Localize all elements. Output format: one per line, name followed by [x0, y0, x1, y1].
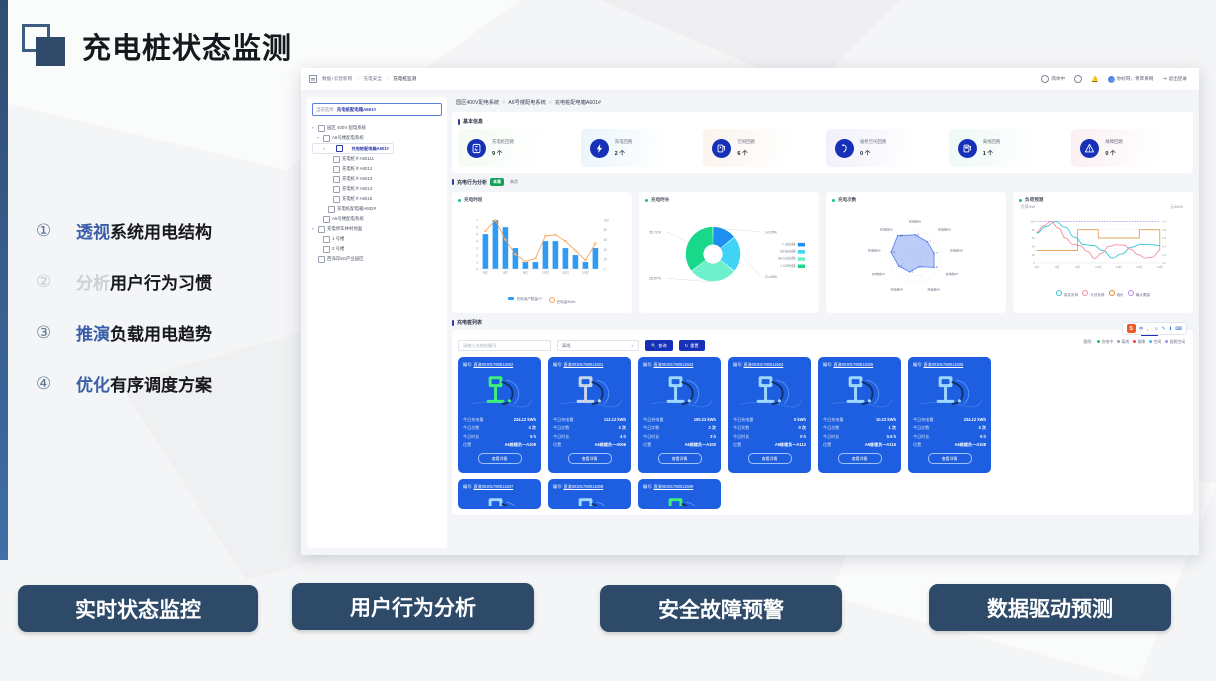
section-label: 充电桩列表	[457, 319, 482, 326]
left-accent-bar	[0, 0, 8, 560]
tree-node[interactable]: 西海岸5G产业园区	[312, 254, 442, 264]
svg-text:0时: 0时	[483, 270, 489, 275]
legend-label: 充电中	[1102, 340, 1113, 344]
node-icon	[328, 206, 335, 213]
query-button[interactable]: 🔍查询	[645, 340, 673, 351]
svg-text:0.8: 0.8	[1162, 228, 1166, 232]
pile-location-row: 位置A6栋楼负一A108	[913, 442, 986, 448]
legend-label: 充电用户数量/个	[516, 297, 542, 301]
node-icon	[323, 246, 330, 253]
list-item-number: ①	[36, 221, 76, 241]
legend-item: 拔枪空闲	[1165, 340, 1185, 345]
tree-node-label: 园区 400V 配电系统	[327, 125, 366, 131]
node-icon	[323, 216, 330, 223]
tree-node-label: 2 号楼	[332, 246, 344, 252]
tab-this-month[interactable]: 本月	[507, 178, 521, 186]
search-input[interactable]: 请输入充电桩编号	[458, 340, 551, 351]
node-icon	[333, 176, 340, 183]
line-chart-svg: 020406080100 0.00.20.40.60.81.0 0时4时8时12…	[1019, 210, 1187, 284]
pile-energy-value: 10.23 kWh	[876, 417, 896, 423]
pile-duration-label: 今日时长	[463, 434, 479, 440]
svg-text:8: 8	[917, 233, 919, 237]
pile-location-row: 位置A6栋楼负一A100	[643, 442, 716, 448]
ime-toolbar[interactable]: S 中 ， ☺ ✎ ⬇ ⌨	[1122, 322, 1187, 335]
info-card-lightning-bolt: 充电回路2 个	[581, 129, 697, 167]
node-icon	[323, 236, 330, 243]
content-breadcrumb: 园区400V配电系统>A6号楼配电系统>充电桩配电箱A601#	[456, 99, 1193, 106]
breadcrumb-separator: /	[357, 77, 358, 82]
tree-node-label: A5号楼配电系统	[332, 216, 364, 222]
pile-card[interactable]: 编号: 直流00301780011503今日充电量100.23 kWh今日次数2…	[638, 357, 721, 473]
pile-card[interactable]: 编号: 直流00301780011501今日充电量112.12 kWh今日次数3…	[548, 357, 631, 473]
view-detail-button[interactable]: 查看详情	[658, 453, 702, 464]
pile-id-value: 直流00301780011504	[743, 362, 783, 367]
svg-text:20: 20	[604, 258, 608, 262]
content-breadcrumb-item-current: 充电桩配电箱A601#	[555, 100, 601, 106]
bell-icon[interactable]: 🔔	[1091, 76, 1098, 83]
tree-node[interactable]: ▾园区 400V 配电系统	[312, 123, 442, 133]
svg-text:充电桩#9: 充电桩#9	[938, 227, 951, 232]
svg-text:100: 100	[1030, 220, 1035, 224]
pill-data-driven-forecast[interactable]: 数据驱动预测	[929, 584, 1171, 631]
offline-pile-icon	[958, 139, 977, 158]
pile-location-row: 位置A6栋楼负一A115	[823, 442, 896, 448]
pile-location-value: A6栋楼负一A100	[685, 442, 716, 448]
svg-text:7: 7	[929, 240, 931, 244]
page-title: 充电桩状态监测	[82, 25, 292, 67]
current-selection-box[interactable]: 当前选择: 充电桩配电箱A601#	[312, 103, 442, 116]
svg-text:5: 5	[476, 232, 478, 236]
chart-charging-count: 充电次数 充电桩#1充电桩#9充电桩#8充电桩#7充电桩#6充电桩#5充电桩#4…	[826, 192, 1006, 313]
view-detail-button[interactable]: 查看详情	[748, 453, 792, 464]
pile-card[interactable]: 编号: 直流00301780011508	[548, 479, 631, 509]
ime-mode-label[interactable]: 中	[1139, 326, 1144, 332]
topbar-right-group: 简体中 🔔 你好呀，青苹果啊 ⇥退出登录	[1041, 75, 1191, 83]
pile-id-value: 直流00301780011508	[563, 484, 603, 489]
tree-node[interactable]: 充电桩＃A60111	[312, 154, 442, 164]
tree-node-label: 充电桩＃A6012	[342, 166, 372, 172]
chart-row: 充电时段 01234567 020406080100 0时4时8时12时16时2…	[452, 192, 1193, 313]
svg-text:60: 60	[1032, 236, 1036, 240]
svg-text:> 120分钟: > 120分钟	[780, 263, 796, 268]
svg-text:30-60分钟: 30-60分钟	[780, 249, 796, 254]
tree-node[interactable]: 2 号楼	[312, 244, 442, 254]
view-detail-button[interactable]: 查看详情	[838, 453, 882, 464]
svg-text:8时: 8时	[523, 270, 529, 275]
legend-item: 离线	[1117, 340, 1129, 345]
legend-label: 最大需量	[1136, 293, 1150, 297]
pile-id-label: 编号:	[643, 362, 652, 367]
list-item-highlight: 推演	[76, 325, 110, 344]
list-item-label: 优化有序调度方案	[76, 371, 212, 396]
list-item-rest: 系统用电结构	[110, 223, 212, 242]
pile-list-title: 充电桩列表	[452, 319, 1193, 326]
tree-node[interactable]: 1 号楼	[312, 234, 442, 244]
info-card-value: 0 个	[860, 149, 886, 157]
info-card-label: 拔枪空闲回路	[860, 139, 886, 145]
behavior-title: 充电行为分析 本周 本月	[452, 178, 1193, 186]
pile-energy-row: 今日充电量0 kWh	[733, 417, 806, 423]
keyboard-icon[interactable]: ⌨	[1175, 326, 1182, 332]
legend-item: 充电用户数量/个	[508, 297, 542, 305]
svg-text:0: 0	[604, 267, 606, 271]
pile-card-id: 编号: 直流00301780011504	[733, 362, 806, 368]
pile-count-value: 4 次	[978, 425, 986, 431]
tab-this-week[interactable]: 本周	[490, 178, 504, 186]
chart-legend: 真实负荷 计划负荷 电价 最大需量	[1019, 290, 1187, 298]
pile-duration-value: 0.5 h	[887, 434, 896, 440]
pile-art	[643, 370, 716, 414]
tree-node[interactable]: ▾充电桩配电箱A601#	[312, 143, 394, 154]
svg-text:< 30分钟: < 30分钟	[782, 241, 796, 246]
svg-text:20时: 20时	[1136, 264, 1142, 269]
legend-item: 充电中	[1097, 340, 1113, 345]
breadcrumb-item[interactable]: 充电安全	[364, 76, 382, 82]
pile-art	[643, 492, 716, 506]
svg-text:4: 4	[476, 239, 478, 243]
pile-id-value: 直流00301780011503	[653, 362, 693, 367]
breadcrumb-separator: >	[502, 100, 505, 106]
pile-count-label: 今日次数	[463, 425, 479, 431]
sogou-logo-icon: S	[1127, 324, 1136, 333]
breadcrumb-separator: /	[387, 77, 388, 82]
tree-node[interactable]: 充电桩＃A6013	[312, 174, 442, 184]
pile-duration-value: 0 h	[800, 434, 806, 440]
pile-card[interactable]: 编号: 直流00301780011502今日充电量234.12 kWh今日次数4…	[458, 357, 541, 473]
tree-node[interactable]: 充电桩＃A6012	[312, 164, 442, 174]
current-selection-label: 当前选择:	[316, 107, 335, 113]
legend-label: 计划负荷	[1090, 293, 1104, 297]
device-tree: ▾园区 400V 配电系统▾A6号楼配电系统▾充电桩配电箱A601#充电桩＃A6…	[312, 123, 442, 264]
svg-text:充电桩#1: 充电桩#1	[909, 218, 922, 223]
logout-icon: ⇥	[1162, 76, 1166, 82]
svg-text:80: 80	[604, 228, 608, 232]
view-detail-button[interactable]: 查看详情	[928, 453, 972, 464]
view-detail-button[interactable]: 查看详情	[478, 453, 522, 464]
pile-art	[913, 370, 986, 414]
pile-location-row: 位置A6栋楼负一A109	[463, 442, 536, 448]
svg-text:6: 6	[476, 225, 478, 229]
legend-label: 故障	[1138, 340, 1146, 344]
legend-label: 拔枪空闲	[1170, 340, 1185, 344]
axis-labels: 负荷/kW 元/kWh	[1019, 203, 1187, 210]
pile-duration-row: 今日时长4 h	[553, 434, 626, 440]
svg-text:40: 40	[604, 248, 608, 252]
basic-info-title: 基本信息	[458, 118, 1187, 125]
list-item-rest: 用户行为习惯	[110, 274, 212, 293]
pile-card-grid-row2: 编号: 直流00301780011507编号: 直流00301780011508…	[458, 479, 1187, 509]
content-breadcrumb-item[interactable]: A6号楼配电系统	[508, 100, 545, 106]
pile-energy-value: 100.23 kWh	[694, 417, 716, 423]
info-card-plug-unplugged: 拔枪空闲回路0 个	[826, 129, 942, 167]
pile-card[interactable]: 编号: 直流00301780011505今日充电量10.23 kWh今日次数1 …	[818, 357, 901, 473]
pile-count-label: 今日次数	[823, 425, 839, 431]
pile-id-label: 编号:	[463, 484, 472, 489]
basic-info-panel: 基本信息 充电桩回路9 个充电回路2 个空闲回路6 个拔枪空闲回路0 个离线回路…	[452, 112, 1193, 173]
content-breadcrumb-item[interactable]: 园区400V配电系统	[456, 100, 499, 106]
bar-chart-svg: 01234567 020406080100 0时4时8时12时16时20时	[458, 203, 626, 291]
list-item-number: ③	[36, 323, 76, 343]
pile-card[interactable]: 编号: 直流00301780011504今日充电量0 kWh今日次数0 次今日时…	[728, 357, 811, 473]
pile-illustration	[643, 492, 716, 506]
tree-node[interactable]: 充电桩＃A6014	[312, 184, 442, 194]
pile-id-label: 编号:	[463, 362, 472, 367]
tree-node-label: 充电桩配电箱A602#	[337, 206, 376, 212]
legend-label: 真实负荷	[1064, 293, 1078, 297]
pile-id-label: 编号:	[913, 362, 922, 367]
pile-energy-label: 今日充电量	[823, 417, 843, 423]
app-screenshot: 数据+云智新网 / 充电安全 / 充电桩监测 简体中 🔔 你好呀，青苹果啊 ⇥退…	[301, 68, 1199, 555]
pile-location-label: 位置	[823, 442, 831, 448]
legend-item: 充电量/kWh	[549, 297, 576, 305]
pile-duration-row: 今日时长0 h	[733, 434, 806, 440]
pill-user-behavior-analysis[interactable]: 用户行为分析	[292, 583, 534, 630]
svg-text:0.6: 0.6	[1162, 236, 1166, 240]
svg-text:10: 10	[900, 233, 904, 237]
svg-text:充电桩#4: 充电桩#4	[872, 271, 885, 276]
reset-label: 重置	[690, 343, 698, 349]
pile-id-value: 直流00301780011506	[923, 362, 963, 367]
tree-node-label: 充电桩配电箱A601#	[352, 146, 389, 152]
svg-text:60-120分钟: 60-120分钟	[778, 256, 796, 261]
pile-duration-row: 今日时长3 h	[643, 434, 716, 440]
tree-node-label: A6号楼配电系统	[332, 135, 364, 141]
pile-location-label: 位置	[463, 442, 471, 448]
svg-text:1.0: 1.0	[1162, 220, 1166, 224]
svg-text:28.57%: 28.57%	[649, 277, 661, 281]
breadcrumb-item[interactable]: 数据+云智新网	[322, 76, 352, 82]
pile-duration-value: 3 h	[710, 434, 716, 440]
main-content: 园区400V配电系统>A6号楼配电系统>充电桩配电箱A601# 基本信息 充电桩…	[447, 91, 1199, 555]
pile-location-value: A6栋楼负一A108	[955, 442, 986, 448]
pile-count-value: 4 次	[528, 425, 536, 431]
pile-id-label: 编号:	[553, 484, 562, 489]
tree-node[interactable]: 充电桩＃A6015	[312, 194, 442, 204]
pile-location-value: A6栋楼负一A115	[865, 442, 896, 448]
pile-illustration	[553, 492, 626, 506]
svg-text:7: 7	[936, 251, 938, 255]
tree-node-label: 充电桩＃A6013	[342, 176, 372, 182]
pile-count-value: 3 次	[618, 425, 626, 431]
svg-text:4时: 4时	[1055, 264, 1060, 269]
list-item: ④ 优化有序调度方案	[36, 371, 286, 396]
menu-collapse-icon[interactable]	[309, 75, 317, 83]
pile-duration-label: 今日时长	[733, 434, 749, 440]
svg-text:0.0: 0.0	[1162, 261, 1166, 265]
pile-duration-label: 今日时长	[823, 434, 839, 440]
info-card-value: 2 个	[615, 149, 633, 157]
legend-items: 充电中离线故障空闲拔枪空闲	[1097, 340, 1185, 345]
pile-location-row: 位置A6栋楼负一A112	[733, 442, 806, 448]
chart-legend: 充电用户数量/个 充电量/kWh	[458, 297, 626, 305]
pile-location-label: 位置	[913, 442, 921, 448]
device-tree-panel: 当前选择: 充电桩配电箱A601# ▾园区 400V 配电系统▾A6号楼配电系统…	[307, 97, 447, 548]
pile-count-row: 今日次数3 次	[553, 425, 626, 431]
info-card-charging-pile: 充电桩回路9 个	[458, 129, 574, 167]
pile-count-row: 今日次数2 次	[643, 425, 716, 431]
pill-realtime-monitoring[interactable]: 实时状态监控	[18, 585, 258, 632]
svg-text:0.2: 0.2	[1162, 253, 1166, 257]
pile-energy-row: 今日充电量112.12 kWh	[553, 417, 626, 423]
pile-energy-label: 今日充电量	[553, 417, 573, 423]
chevron-right-icon[interactable]: ▾	[312, 126, 316, 130]
list-item: ① 透视系统用电结构	[36, 218, 286, 243]
pile-count-label: 今日次数	[913, 425, 929, 431]
warning-triangle-icon	[1080, 139, 1099, 158]
chevron-right-icon[interactable]: ▾	[323, 147, 327, 151]
svg-text:60: 60	[604, 238, 608, 242]
svg-text:充电桩#5: 充电桩#5	[890, 287, 903, 292]
pile-illustration	[733, 370, 806, 414]
pile-energy-label: 今日充电量	[463, 417, 483, 423]
language-switcher[interactable]: 简体中	[1041, 75, 1065, 83]
svg-text:充电桩#2: 充电桩#2	[880, 227, 893, 232]
tree-node[interactable]: ▾充电停车林村地面	[312, 224, 442, 234]
info-card-offline-pile: 离线回路1 个	[949, 129, 1065, 167]
tree-node[interactable]: ▾A6号楼配电系统	[312, 133, 442, 143]
tree-node-label: 充电桩＃A60111	[342, 156, 374, 162]
breadcrumb-separator: >	[549, 100, 552, 106]
pile-duration-label: 今日时长	[553, 434, 569, 440]
svg-text:7: 7	[476, 218, 478, 222]
logout-label: 退出登录	[1169, 76, 1187, 82]
key-points-list: ① 透视系统用电结构 ② 分析用户行为习惯 ③ 推演负载用电趋势 ④ 优化有序调…	[36, 218, 286, 422]
pile-energy-value: 234.12 kWh	[514, 417, 536, 423]
view-detail-button[interactable]: 查看详情	[568, 453, 612, 464]
legend-label: 离线	[1122, 340, 1130, 344]
status-legend: 图例: 充电中离线故障空闲拔枪空闲	[1083, 340, 1185, 345]
tree-node[interactable]: A5号楼配电系统	[312, 214, 442, 224]
breadcrumb-item-current: 充电桩监测	[393, 76, 416, 82]
chart-charging-period: 充电时段 01234567 020406080100 0时4时8时12时16时2…	[452, 192, 632, 313]
refresh-icon: ↻	[685, 343, 689, 348]
pill-safety-fault-warning[interactable]: 安全故障预警	[600, 585, 842, 632]
user-profile[interactable]: 你好呀，青苹果啊	[1108, 76, 1154, 83]
node-icon	[333, 196, 340, 203]
svg-text:20: 20	[1032, 253, 1036, 257]
reset-button[interactable]: ↻重置	[679, 340, 705, 351]
list-item-rest: 负载用电趋势	[110, 325, 212, 344]
svg-text:4时: 4时	[503, 270, 509, 275]
chevron-right-icon[interactable]: ▾	[312, 227, 316, 231]
svg-text:2: 2	[476, 253, 478, 257]
pile-id-value: 直流00301780011502	[473, 362, 513, 367]
pile-location-value: A6栋楼负一A109	[505, 442, 536, 448]
pile-illustration	[913, 370, 986, 414]
pile-card[interactable]: 编号: 直流00301780011509	[638, 479, 721, 509]
pile-card-id: 编号: 直流00301780011506	[913, 362, 986, 368]
pile-list-section: 充电桩列表 卡片视图 列表视图 图例: 充电中离线故障空闲拔枪空闲 请输入充电桩…	[452, 319, 1193, 515]
legend-label: 电价	[1117, 293, 1124, 297]
pile-card-id: 编号: 直流00301780011502	[463, 362, 536, 368]
download-icon[interactable]: ⬇	[1169, 326, 1173, 332]
info-card-label: 离线回路	[983, 139, 1001, 145]
list-item-label: 分析用户行为习惯	[76, 269, 212, 294]
pile-card-id: 编号: 直流00301780011503	[643, 362, 716, 368]
behavior-analysis-section: 充电行为分析 本周 本月 充电时段 01234567 020406080100	[452, 178, 1193, 313]
pencil-icon[interactable]: ✎	[1162, 326, 1166, 332]
comma-icon[interactable]: ，	[1146, 326, 1151, 332]
info-card-value: 9 个	[492, 149, 514, 157]
node-icon	[318, 256, 325, 263]
svg-text:20时: 20时	[582, 270, 590, 275]
list-item-label: 透视系统用电结构	[76, 218, 212, 243]
node-icon	[318, 125, 325, 132]
pile-location-value: A6栋楼负一A006	[595, 442, 626, 448]
svg-text:充电桩#7: 充电桩#7	[946, 271, 959, 276]
pile-art	[463, 370, 536, 414]
svg-text:充电桩#8: 充电桩#8	[950, 247, 963, 252]
pile-card[interactable]: 编号: 直流00301780011507	[458, 479, 541, 509]
legend-item: 真实负荷	[1056, 290, 1078, 298]
pile-list-panel: 卡片视图 列表视图 图例: 充电中离线故障空闲拔枪空闲 请输入充电桩编号 离线▼…	[452, 330, 1193, 515]
info-card-value: 0 个	[1105, 149, 1123, 157]
section-label: 充电行为分析	[457, 179, 487, 186]
svg-text:1: 1	[476, 260, 478, 264]
pile-card-id: 编号: 直流00301780011509	[643, 484, 716, 490]
pile-card[interactable]: 编号: 直流00301780011506今日充电量234.12 kWh今日次数4…	[908, 357, 991, 473]
status-select[interactable]: 离线▼	[557, 340, 639, 351]
question-circle-icon[interactable]	[1074, 75, 1082, 83]
legend-item: 空闲	[1149, 340, 1161, 345]
pile-illustration	[823, 370, 896, 414]
node-icon	[323, 135, 330, 142]
node-icon	[333, 166, 340, 173]
pile-card-id: 编号: 直流00301780011507	[463, 484, 536, 490]
list-item-highlight: 透视	[76, 223, 110, 242]
charging-pile-icon	[467, 139, 486, 158]
chevron-right-icon[interactable]: ▾	[317, 136, 321, 140]
pile-count-value: 1 次	[888, 425, 896, 431]
pile-count-value: 0 次	[798, 425, 806, 431]
pile-id-label: 编号:	[553, 362, 562, 367]
pile-location-label: 位置	[733, 442, 741, 448]
list-item-rest: 有序调度方案	[110, 376, 212, 395]
pile-duration-row: 今日时长5 h	[913, 434, 986, 440]
query-label: 查询	[658, 343, 666, 349]
pile-illustration	[463, 492, 536, 506]
info-card-label: 充电桩回路	[492, 139, 514, 145]
svg-text:充电桩#6: 充电桩#6	[927, 287, 940, 292]
pile-id-value: 直流00301780011507	[473, 484, 513, 489]
tree-node[interactable]: 充电桩配电箱A602#	[312, 204, 442, 214]
svg-text:0: 0	[476, 267, 478, 271]
feature-pill-row: 实时状态监控 用户行为分析 安全故障预警 数据驱动预测	[0, 580, 1216, 640]
pile-art	[823, 370, 896, 414]
legend-item: 最大需量	[1128, 290, 1150, 298]
pile-id-value: 直流00301780011509	[653, 484, 693, 489]
tree-node-label: 充电桩＃A6015	[342, 196, 372, 202]
svg-text:0时: 0时	[1034, 264, 1039, 269]
pile-energy-row: 今日充电量10.23 kWh	[823, 417, 896, 423]
svg-text:8: 8	[936, 265, 938, 269]
svg-text:16时: 16时	[1116, 264, 1122, 269]
tree-node-label: 充电停车林村地面	[327, 226, 362, 232]
pile-count-row: 今日次数4 次	[463, 425, 536, 431]
pile-energy-label: 今日充电量	[733, 417, 753, 423]
emoji-icon[interactable]: ☺	[1154, 326, 1159, 331]
svg-text:12时: 12时	[542, 270, 550, 275]
logout-button[interactable]: ⇥退出登录	[1162, 76, 1187, 82]
pile-duration-value: 5 h	[980, 434, 986, 440]
charging-gun-icon	[712, 139, 731, 158]
pile-location-label: 位置	[643, 442, 651, 448]
pile-energy-row: 今日充电量234.12 kWh	[463, 417, 536, 423]
pile-energy-label: 今日充电量	[913, 417, 933, 423]
pile-count-value: 2 次	[708, 425, 716, 431]
pile-id-value: 直流00301780011501	[563, 362, 603, 367]
pile-count-row: 今日次数1 次	[823, 425, 896, 431]
